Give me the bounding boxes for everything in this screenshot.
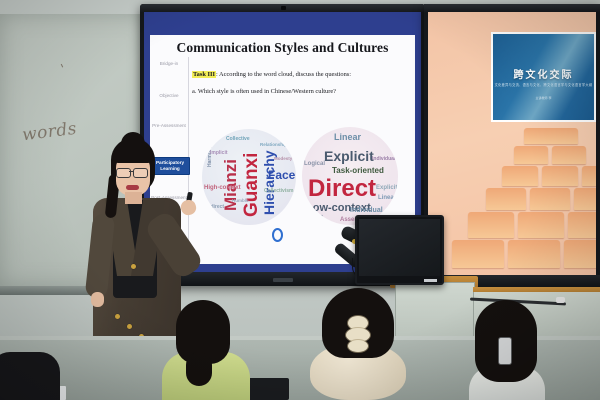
teacher-lips <box>126 185 139 190</box>
rail-item-bridge-in[interactable]: Bridge-in <box>150 61 188 67</box>
teacher-coat-button <box>131 264 136 269</box>
cloud-word-linear-small: Linear <box>378 195 396 201</box>
teacher-coat-button <box>115 314 120 319</box>
slide-logo-icon <box>272 228 283 242</box>
rail-item-pre-assessment[interactable]: Pre-Assessment <box>150 123 188 129</box>
wall-panel-screen: 跨文化交际 文化差异与交流、语言与文化、跨文化语言学与文化语言学大纲 主讲教师 … <box>428 12 596 275</box>
cloud-word-collective: Collective <box>226 137 250 142</box>
whiteboard-ink-word: words <box>21 119 78 146</box>
cloud-word-high-context: High-context <box>204 185 241 191</box>
slide-title: Communication Styles and Cultures <box>150 40 415 56</box>
teacher-left-hand <box>91 292 104 307</box>
cloud-word-indirect: Indirect <box>206 205 224 210</box>
glasses-bridge <box>129 171 133 172</box>
classroom-screenshot: ' words Communication Styles and Culture… <box>0 0 600 400</box>
cloud-word-task-oriented: Task-oriented <box>332 167 384 175</box>
course-poster: 跨文化交际 文化差异与交流、语言与文化、跨文化语言学与文化语言学大纲 主讲教师 … <box>491 32 596 122</box>
articulated-arm-monitor[interactable] <box>355 215 444 285</box>
task-badge: Task III <box>192 71 216 78</box>
teacher-right-hand <box>179 198 198 217</box>
hair-clip <box>499 338 511 364</box>
poster-subtitle: 文化差异与交流、语言与文化、跨文化语言学与文化语言学大纲 <box>493 82 594 87</box>
poster-background: 跨文化交际 文化差异与交流、语言与文化、跨文化语言学与文化语言学大纲 主讲教师 … <box>493 34 594 120</box>
cloud-word-explicit: Explicit <box>324 149 374 163</box>
student-left-edge <box>0 352 60 400</box>
student-center <box>300 288 418 400</box>
cloud-word-implicit: Implicit <box>210 151 228 156</box>
wall-display-panel: 跨文化交际 文化差异与交流、语言与文化、跨文化语言学与文化语言学大纲 主讲教师 … <box>424 4 600 288</box>
teacher-coat-button <box>127 324 132 329</box>
glasses-right-lens <box>133 168 148 178</box>
slide-task-line: Task III: According to the word cloud, d… <box>192 71 407 78</box>
panel-top-bezel <box>140 4 425 12</box>
student-ponytail <box>186 352 212 386</box>
poster-title: 跨文化交际 <box>493 66 594 81</box>
word-cloud-chinese: Mianzi Guanxi Hierarchy Face Harmony Hig… <box>202 129 296 225</box>
rail-item-objective[interactable]: Objective <box>150 93 188 99</box>
glasses-left-lens <box>116 168 131 178</box>
cloud-word-logical: Logical <box>304 161 325 167</box>
brand-logo-icon <box>273 278 293 282</box>
student-center-left <box>160 300 252 400</box>
monitor-brand-badge <box>424 279 437 282</box>
task-text: : According to the word cloud, discuss t… <box>216 71 351 78</box>
camera-icon <box>281 6 286 10</box>
cloud-word-guanxi: Guanxi <box>242 153 261 217</box>
monitor-screen[interactable] <box>359 219 440 276</box>
hair-scrunchie <box>348 340 368 352</box>
cloud-word-explicit-small: Explicit <box>376 185 397 191</box>
student-right <box>455 300 565 400</box>
whiteboard-ink-mark: ' <box>59 62 69 77</box>
cloud-word-direct-small: Direct <box>306 215 323 221</box>
cloud-word-direct: Direct <box>308 177 376 201</box>
teacher-neck <box>125 192 142 204</box>
cloud-word-modesty: Modesty <box>274 157 292 162</box>
cloud-word-individualism: Individualism <box>372 157 398 162</box>
cloud-word-collectivism: Collectivism <box>264 189 293 194</box>
cloud-word-humble: Humble <box>232 199 249 204</box>
wall-panel-top-bezel <box>424 4 600 12</box>
cloud-word-linear: Linear <box>334 133 361 142</box>
cloud-word-harmony: Harmony <box>208 145 213 167</box>
cloud-word-relationship: Relationship <box>260 143 287 148</box>
teacher-fringe <box>113 146 153 163</box>
slide-question: a. Which style is often used in Chinese/… <box>192 88 407 95</box>
word-cloud-western: Direct Explicit Linear Task-oriented Low… <box>302 127 398 225</box>
poster-author: 主讲教师 李 <box>493 96 594 100</box>
cloud-word-individual: Individual <box>350 207 383 214</box>
cloud-word-face: Face <box>268 169 295 181</box>
